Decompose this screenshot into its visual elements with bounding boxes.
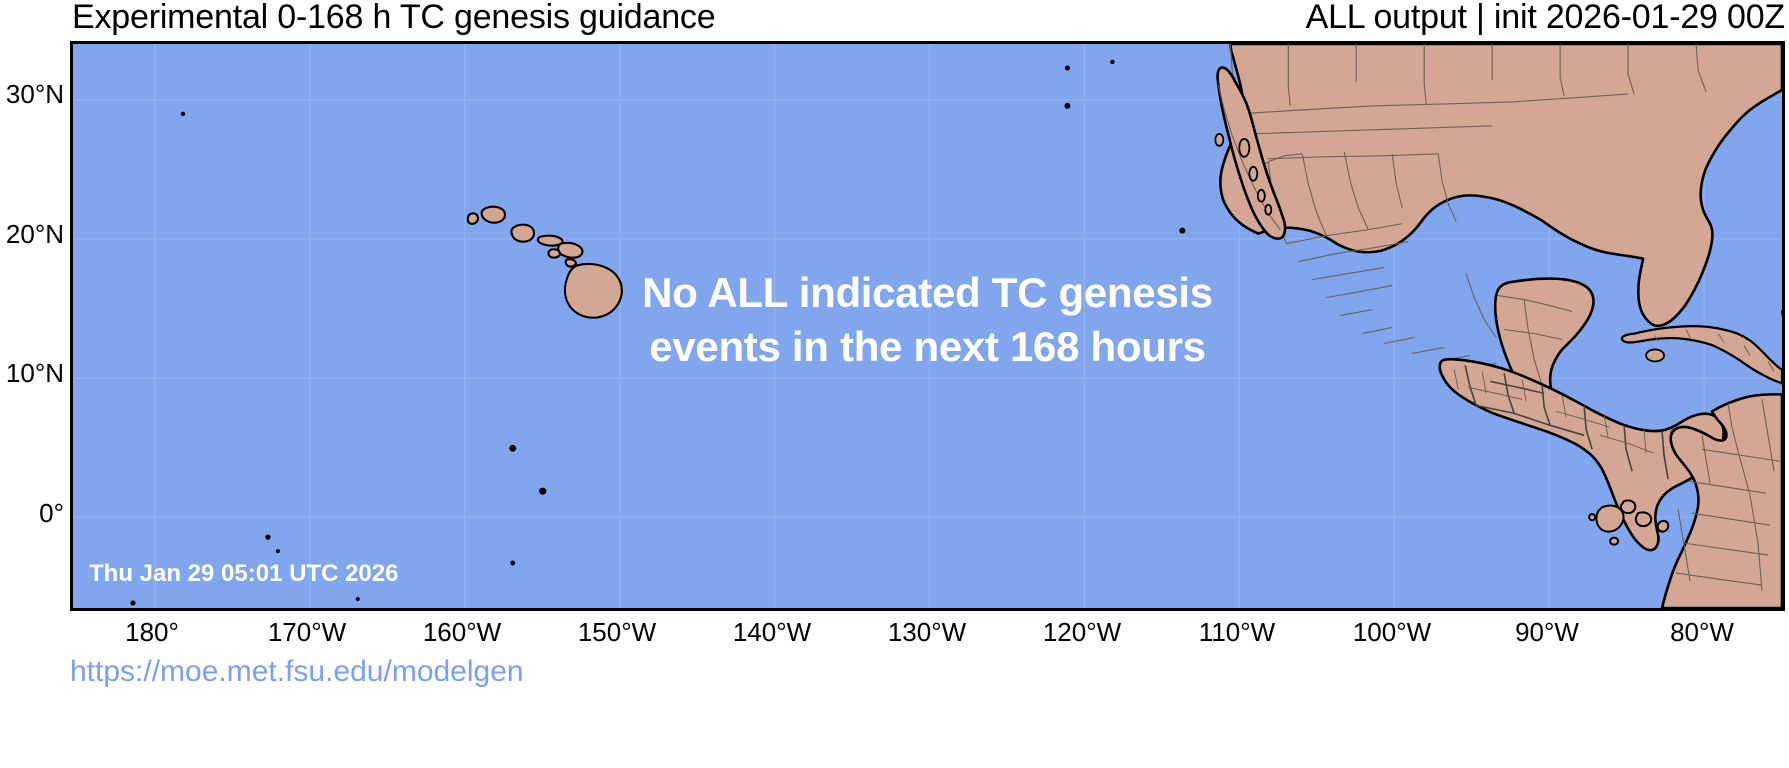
kahoolawe-island	[566, 259, 576, 266]
valid-timestamp: Thu Jan 29 05:01 UTC 2026	[89, 560, 398, 588]
tc-genesis-guidance-page: Experimental 0-168 h TC genesis guidance…	[0, 0, 1789, 768]
y-axis-tick-0: 0°	[0, 498, 64, 529]
header-model-info: ALL output | init 2026-01-29 00Z	[1306, 0, 1785, 37]
x-axis-tick-140w: 140°W	[733, 617, 811, 648]
map-geography	[73, 44, 1782, 608]
maui-island	[558, 243, 582, 258]
lanai-island	[548, 249, 559, 257]
oahu-island	[511, 225, 533, 242]
map-canvas[interactable]: No ALL indicated TC genesis events in th…	[70, 41, 1785, 611]
x-axis-tick-150w: 150°W	[578, 617, 656, 648]
y-axis-tick-10n: 10°N	[0, 358, 64, 389]
niihau-island	[468, 213, 478, 224]
x-axis-tick-180: 180°	[125, 617, 179, 648]
page-title: Experimental 0-168 h TC genesis guidance	[72, 0, 715, 37]
x-axis-tick-160w: 160°W	[423, 617, 501, 648]
source-url-link[interactable]: https://moe.met.fsu.edu/modelgen	[70, 655, 524, 689]
hawaii-big-island	[565, 264, 622, 318]
x-axis-tick-100w: 100°W	[1353, 617, 1431, 648]
x-axis-tick-80w: 80°W	[1670, 617, 1734, 648]
x-axis-tick-130w: 130°W	[888, 617, 966, 648]
kauai-island	[482, 207, 505, 223]
x-axis-tick-110w: 110°W	[1199, 617, 1275, 648]
x-axis-tick-90w: 90°W	[1515, 617, 1579, 648]
y-axis-tick-30n: 30°N	[0, 79, 64, 110]
y-axis-tick-20n: 20°N	[0, 219, 64, 250]
header: Experimental 0-168 h TC genesis guidance…	[0, 0, 1789, 42]
isla-juventud	[1646, 349, 1664, 361]
x-axis-tick-120w: 120°W	[1043, 617, 1121, 648]
x-axis-tick-170w: 170°W	[268, 617, 346, 648]
